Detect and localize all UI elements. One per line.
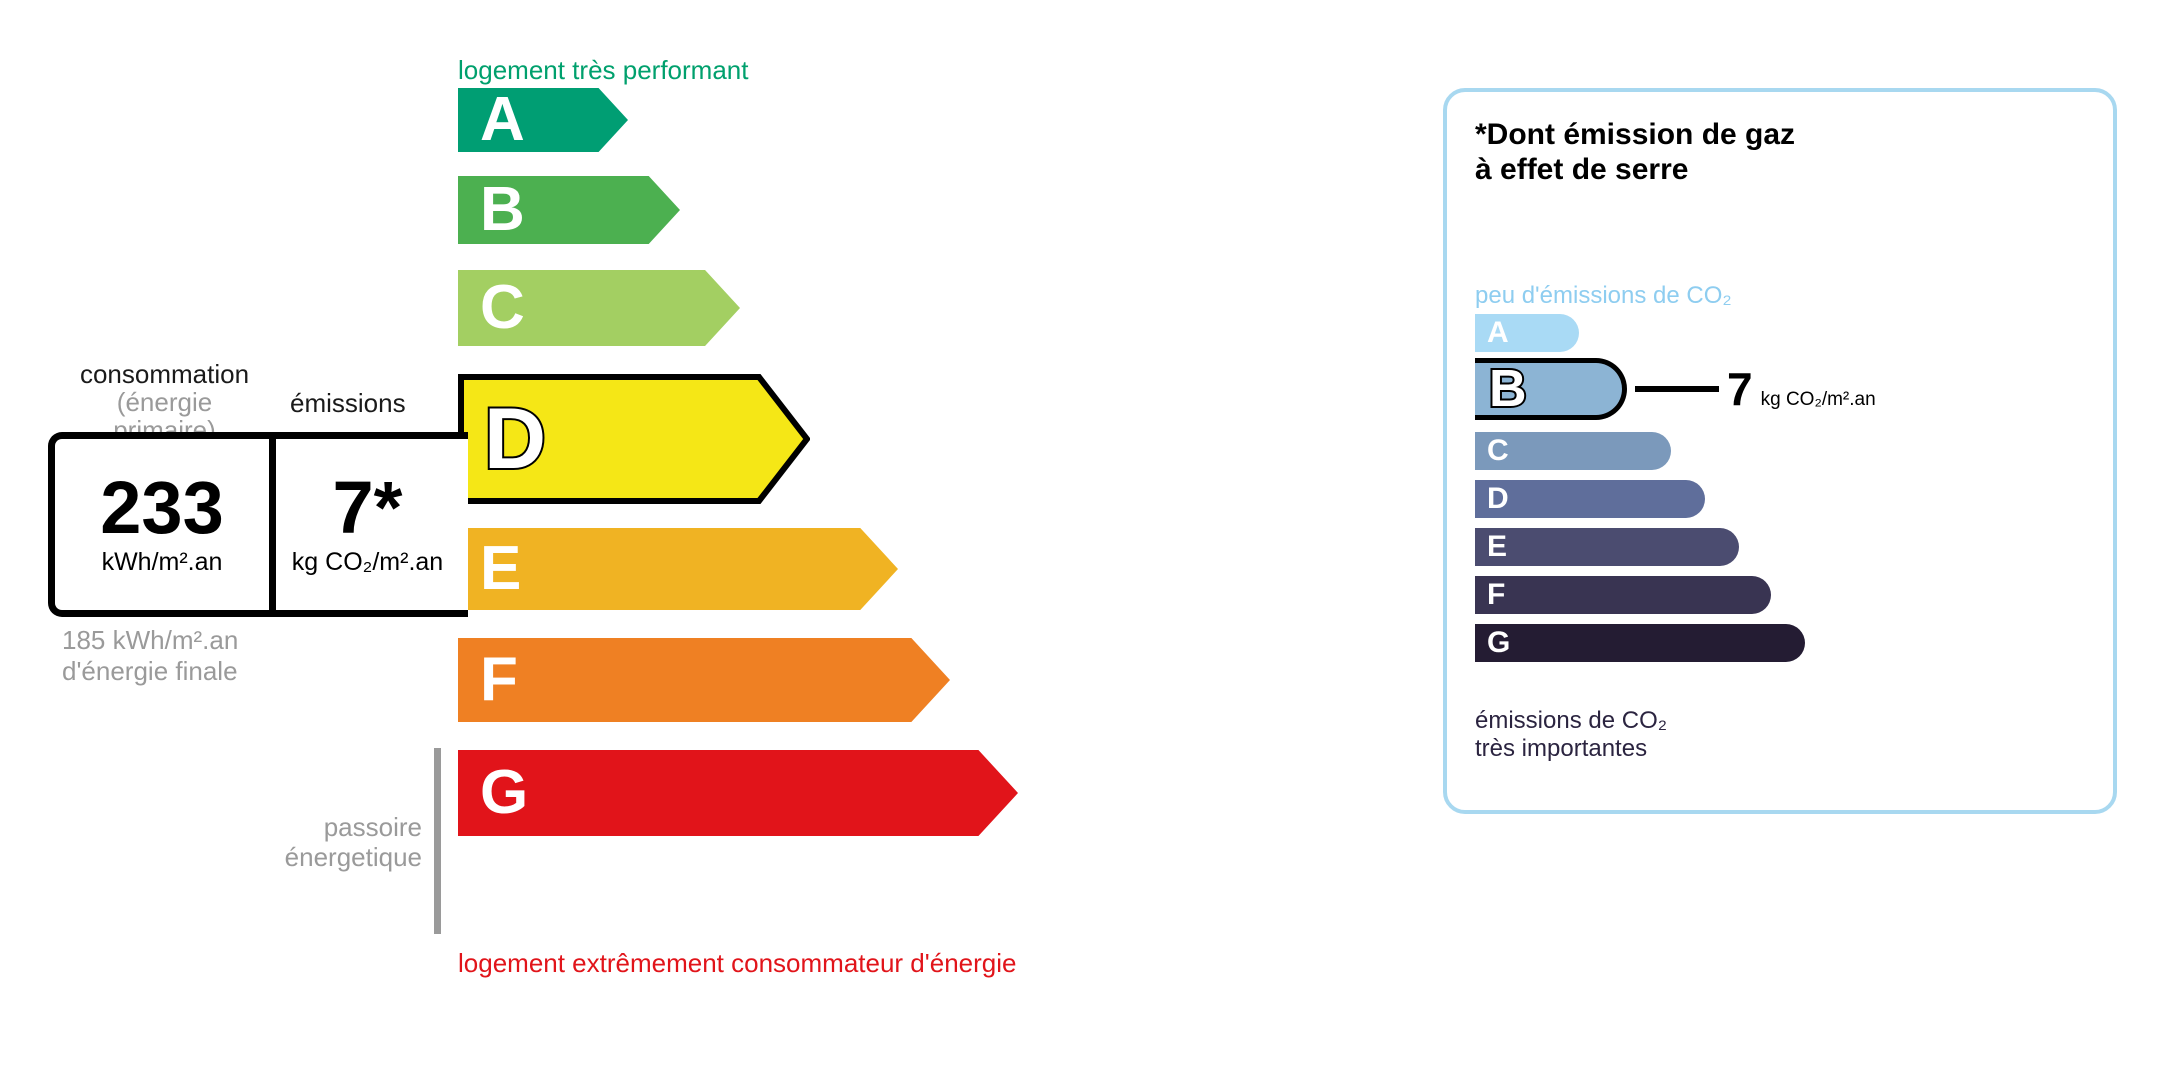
co2-top-caption: peu d'émissions de CO₂ <box>1475 282 1732 310</box>
co2-class-letter-b: B <box>1489 363 1527 415</box>
co2-class-bar-f <box>1475 576 1771 614</box>
co2-bottom-caption: émissions de CO₂ très importantes <box>1475 707 1667 763</box>
energy-class-letter-a: A <box>480 89 525 151</box>
co2-callout-value: 7 <box>1727 366 1753 412</box>
consumption-unit: kWh/m².an <box>102 548 223 577</box>
energy-class-arrow-f <box>458 638 950 722</box>
energy-class-letter-b: B <box>480 179 525 241</box>
scale-bottom-caption: logement extrêmement consommateur d'éner… <box>458 948 1016 979</box>
energy-class-letter-d: D <box>484 396 546 482</box>
emission-value-cell: 7* kg CO₂/m².an <box>269 439 459 610</box>
energy-class-row-f: F <box>458 638 950 722</box>
energy-class-letter-c: C <box>480 277 525 339</box>
passoire-energetique-label: passoire énergetique <box>210 812 422 872</box>
co2-class-letter-c: C <box>1487 436 1509 466</box>
co2-class-letter-e: E <box>1487 532 1507 562</box>
co2-class-row-a: A <box>1475 314 1579 352</box>
co2-emissions-panel: *Dont émission de gaz à effet de serre p… <box>1443 88 2117 814</box>
passoire-line-2: énergetique <box>210 842 422 872</box>
co2-title-line-1: *Dont émission de gaz <box>1475 118 1795 153</box>
co2-callout: 7kg CO₂/m².an <box>1727 366 1876 412</box>
co2-callout-unit: kg CO₂/m².an <box>1761 389 1876 411</box>
consumption-value: 233 <box>100 472 223 545</box>
emission-unit: kg CO₂/m².an <box>292 548 443 577</box>
co2-class-letter-a: A <box>1487 318 1509 348</box>
emission-value: 7* <box>333 472 403 545</box>
energy-class-row-a: A <box>458 88 628 152</box>
energy-performance-panel: logement très performant ABCDEFG logemen… <box>0 0 1400 1079</box>
co2-callout-leader-line <box>1635 386 1719 392</box>
final-energy-note: 185 kWh/m².an d'énergie finale <box>62 625 238 686</box>
consumption-label-main: consommation <box>62 360 267 388</box>
energy-class-letter-f: F <box>480 649 518 711</box>
dpe-value-box: 233 kWh/m².an 7* kg CO₂/m².an <box>48 432 468 617</box>
final-energy-value: 185 kWh/m².an <box>62 625 238 656</box>
co2-class-bar-d <box>1475 480 1705 518</box>
scale-top-caption: logement très performant <box>458 55 748 86</box>
co2-class-letter-f: F <box>1487 580 1505 610</box>
co2-class-letter-g: G <box>1487 628 1510 658</box>
co2-title-line-2: à effet de serre <box>1475 153 1795 188</box>
energy-class-row-e: E <box>458 528 898 610</box>
co2-class-row-c: C <box>1475 432 1671 470</box>
co2-bottom-caption-line-2: très importantes <box>1475 735 1667 763</box>
energy-class-arrow-stack: ABCDEFG <box>458 88 1258 938</box>
passoire-energetique-marker <box>434 748 441 934</box>
emissions-label: émissions <box>290 388 406 419</box>
co2-class-bar-stack: AB7kg CO₂/m².anCDEFG <box>1475 314 2095 704</box>
co2-class-row-f: F <box>1475 576 1771 614</box>
co2-class-letter-d: D <box>1487 484 1509 514</box>
co2-bottom-caption-line-1: émissions de CO₂ <box>1475 707 1667 735</box>
passoire-line-1: passoire <box>210 812 422 842</box>
co2-class-row-e: E <box>1475 528 1739 566</box>
co2-class-bar-g <box>1475 624 1805 662</box>
energy-class-row-d: D <box>458 374 810 504</box>
co2-class-bar-e <box>1475 528 1739 566</box>
energy-class-letter-e: E <box>480 538 521 600</box>
consumption-value-cell: 233 kWh/m².an <box>55 439 269 610</box>
co2-class-row-g: G <box>1475 624 1805 662</box>
co2-class-row-d: D <box>1475 480 1705 518</box>
energy-class-arrow-e <box>458 528 898 610</box>
energy-class-row-b: B <box>458 176 680 244</box>
energy-class-letter-g: G <box>480 762 528 824</box>
final-energy-caption: d'énergie finale <box>62 656 238 687</box>
co2-class-row-b: B <box>1475 358 1627 420</box>
energy-class-row-c: C <box>458 270 740 346</box>
energy-class-row-g: G <box>458 750 1018 836</box>
co2-panel-title: *Dont émission de gaz à effet de serre <box>1475 118 1795 188</box>
energy-class-arrow-g <box>458 750 1018 836</box>
